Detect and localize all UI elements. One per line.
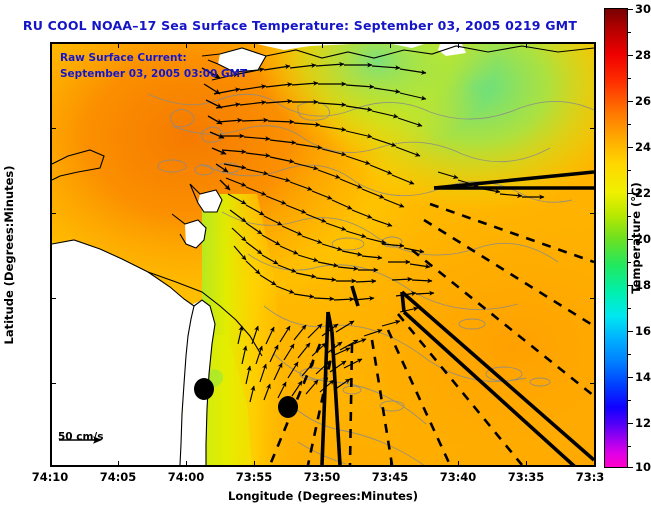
- scale-bar: 50 cm/s: [58, 431, 104, 443]
- colorbar-tick: [628, 55, 633, 56]
- colorbar-minor-tick: [628, 308, 631, 309]
- x-tick-label: 73:55: [236, 470, 273, 484]
- colorbar-minor-tick: [628, 354, 631, 355]
- sst-contour-lines: [148, 94, 594, 465]
- colorbar-label: 26: [635, 94, 651, 108]
- colorbar-minor-tick: [628, 170, 631, 171]
- sst-map-plot[interactable]: Raw Surface Current: September 03, 2005 …: [50, 42, 596, 467]
- y-tick-right: [590, 213, 596, 214]
- x-tick-bottom: [322, 461, 323, 467]
- annotation-line-2: September 03, 2005 03:00 GMT: [60, 68, 247, 80]
- y-tick-left: [50, 383, 56, 384]
- x-tick-top: [118, 42, 119, 48]
- colorbar-minor-tick: [628, 124, 631, 125]
- x-tick-bottom: [458, 461, 459, 467]
- x-tick-bottom: [390, 461, 391, 467]
- y-axis-label: Latitude (Degrees:Minutes): [2, 166, 16, 345]
- y-tick-right: [590, 465, 596, 466]
- annotation-line-1: Raw Surface Current:: [60, 52, 187, 64]
- surface-current-vectors: [202, 64, 544, 402]
- x-tick-top: [186, 42, 187, 48]
- x-tick-bottom: [186, 461, 187, 467]
- x-tick-label: 73:50: [304, 470, 341, 484]
- y-tick-right: [590, 298, 596, 299]
- y-tick-left: [50, 43, 56, 44]
- colorbar-tick: [628, 331, 633, 332]
- x-tick-bottom: [254, 461, 255, 467]
- y-tick-left: [50, 298, 56, 299]
- x-tick-label: 73:3: [576, 470, 605, 484]
- right-arrow-icon: [58, 434, 104, 446]
- y-tick-left: [50, 128, 56, 129]
- x-tick-bottom: [118, 461, 119, 467]
- radar-station-markers: [194, 378, 298, 418]
- colorbar-label: 12: [635, 416, 651, 430]
- figure-canvas: RU COOL NOAA–17 Sea Surface Temperature:…: [0, 0, 651, 518]
- x-tick-label: 74:10: [32, 470, 69, 484]
- codar-beam-lines-dashed: [270, 204, 594, 465]
- colorbar-tick: [628, 467, 633, 468]
- colorbar-minor-tick: [628, 78, 631, 79]
- x-tick-bottom: [526, 461, 527, 467]
- temperature-colorbar[interactable]: [604, 8, 628, 468]
- colorbar-tick: [628, 101, 633, 102]
- x-tick-bottom: [594, 461, 595, 467]
- colorbar-tick: [628, 9, 633, 10]
- y-tick-left: [50, 213, 56, 214]
- x-tick-label: 73:40: [440, 470, 477, 484]
- sst-field: [52, 44, 594, 465]
- page-title: RU COOL NOAA–17 Sea Surface Temperature:…: [0, 18, 600, 33]
- x-tick-label: 73:45: [372, 470, 409, 484]
- colorbar-minor-tick: [628, 446, 631, 447]
- x-tick-top: [322, 42, 323, 48]
- y-tick-right: [590, 383, 596, 384]
- colorbar-tick: [628, 377, 633, 378]
- colorbar-title: Temperature (°C): [629, 182, 643, 293]
- colorbar-label: 16: [635, 324, 651, 338]
- colorbar-label: 14: [635, 370, 651, 384]
- y-tick-left: [50, 465, 56, 466]
- y-tick-right: [590, 128, 596, 129]
- colorbar-minor-tick: [628, 400, 631, 401]
- x-tick-label: 74:05: [100, 470, 137, 484]
- colorbar-minor-tick: [628, 32, 631, 33]
- x-tick-top: [458, 42, 459, 48]
- codar-beam-lines-solid: [322, 172, 594, 465]
- colorbar-label: 28: [635, 48, 651, 62]
- y-tick-right: [590, 43, 596, 44]
- x-tick-label: 74:00: [168, 470, 205, 484]
- x-tick-label: 73:35: [508, 470, 545, 484]
- map-svg: [52, 44, 594, 465]
- colorbar-tick: [628, 147, 633, 148]
- x-tick-top: [526, 42, 527, 48]
- land-mask: [52, 44, 594, 465]
- colorbar-tick: [628, 423, 633, 424]
- colorbar-label: 24: [635, 140, 651, 154]
- coastline: [52, 46, 594, 465]
- colorbar-label: 30: [635, 2, 651, 16]
- x-axis-label: Longitude (Degrees:Minutes): [228, 489, 418, 503]
- x-tick-bottom: [50, 461, 51, 467]
- x-tick-top: [390, 42, 391, 48]
- colorbar-label: 10: [635, 460, 651, 474]
- x-tick-top: [254, 42, 255, 48]
